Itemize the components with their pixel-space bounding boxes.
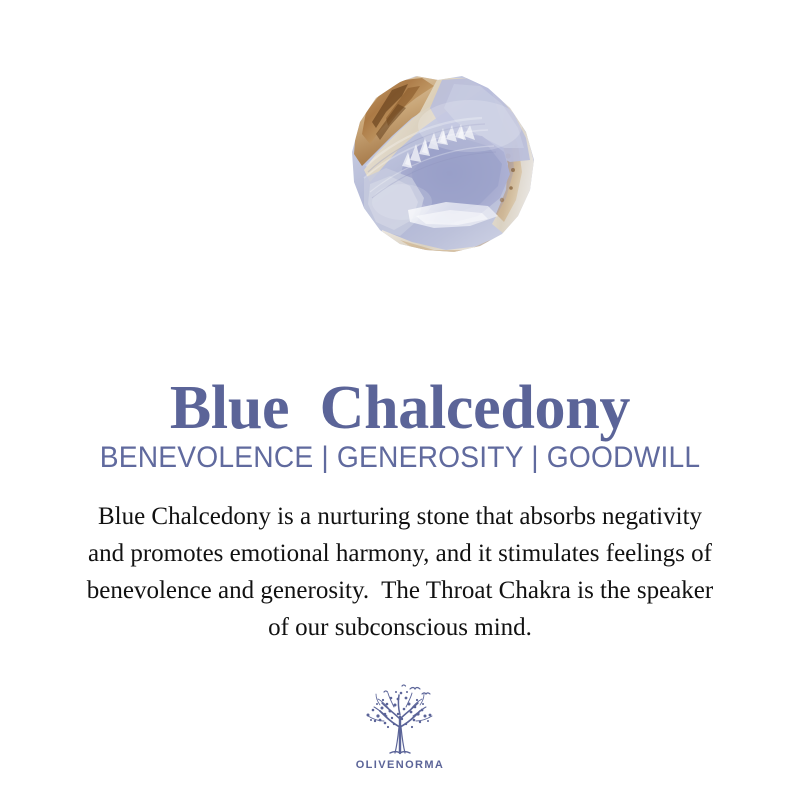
keyword-tagline: BENEVOLENCE | GENEROSITY | GOODWILL (24, 440, 776, 476)
brand-logo: OLIVENORMA (0, 683, 800, 771)
gemstone-image (40, 74, 800, 264)
product-info-card: Blue Chalcedony BENEVOLENCE | GENEROSITY… (0, 0, 800, 800)
description-line: and promotes emotional harmony, and it s… (0, 535, 800, 572)
tree-of-life-icon (354, 683, 446, 757)
blue-chalcedony-geode-illustration (342, 74, 538, 260)
brand-name: OLIVENORMA (356, 759, 445, 771)
description-paragraph: Blue Chalcedony is a nurturing stone tha… (0, 498, 800, 646)
page-title: Blue Chalcedony (0, 374, 800, 443)
description-line: benevolence and generosity. The Throat C… (0, 572, 800, 609)
description-line: Blue Chalcedony is a nurturing stone tha… (0, 498, 800, 535)
description-line: of our subconscious mind. (0, 609, 800, 646)
